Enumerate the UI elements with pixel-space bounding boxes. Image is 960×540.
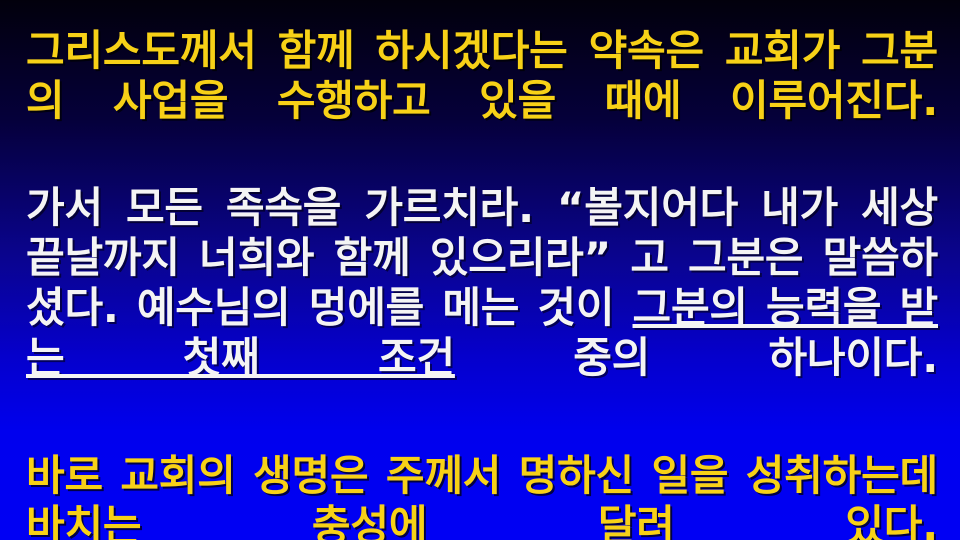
paragraph-text-tail: 중의 하나이다. — [455, 333, 938, 382]
paragraph-promise: 그리스도께서 함께 하시겠다는 약속은 교회가 그분의 사업을 수행하고 있을 … — [26, 26, 938, 176]
presentation-slide: 그리스도께서 함께 하시겠다는 약속은 교회가 그분의 사업을 수행하고 있을 … — [0, 0, 960, 540]
slide-text-body: 그리스도께서 함께 하시겠다는 약속은 교회가 그분의 사업을 수행하고 있을 … — [26, 26, 938, 540]
paragraph-church-life: 바로 교회의 생명은 주께서 명하신 일을 성취하는데 바치는 충성에 달려 있… — [26, 451, 938, 540]
paragraph-great-commission: 가서 모든 족속을 가르치라. “볼지어다 내가 세상 끝날까지 너희와 함께 … — [26, 183, 938, 433]
